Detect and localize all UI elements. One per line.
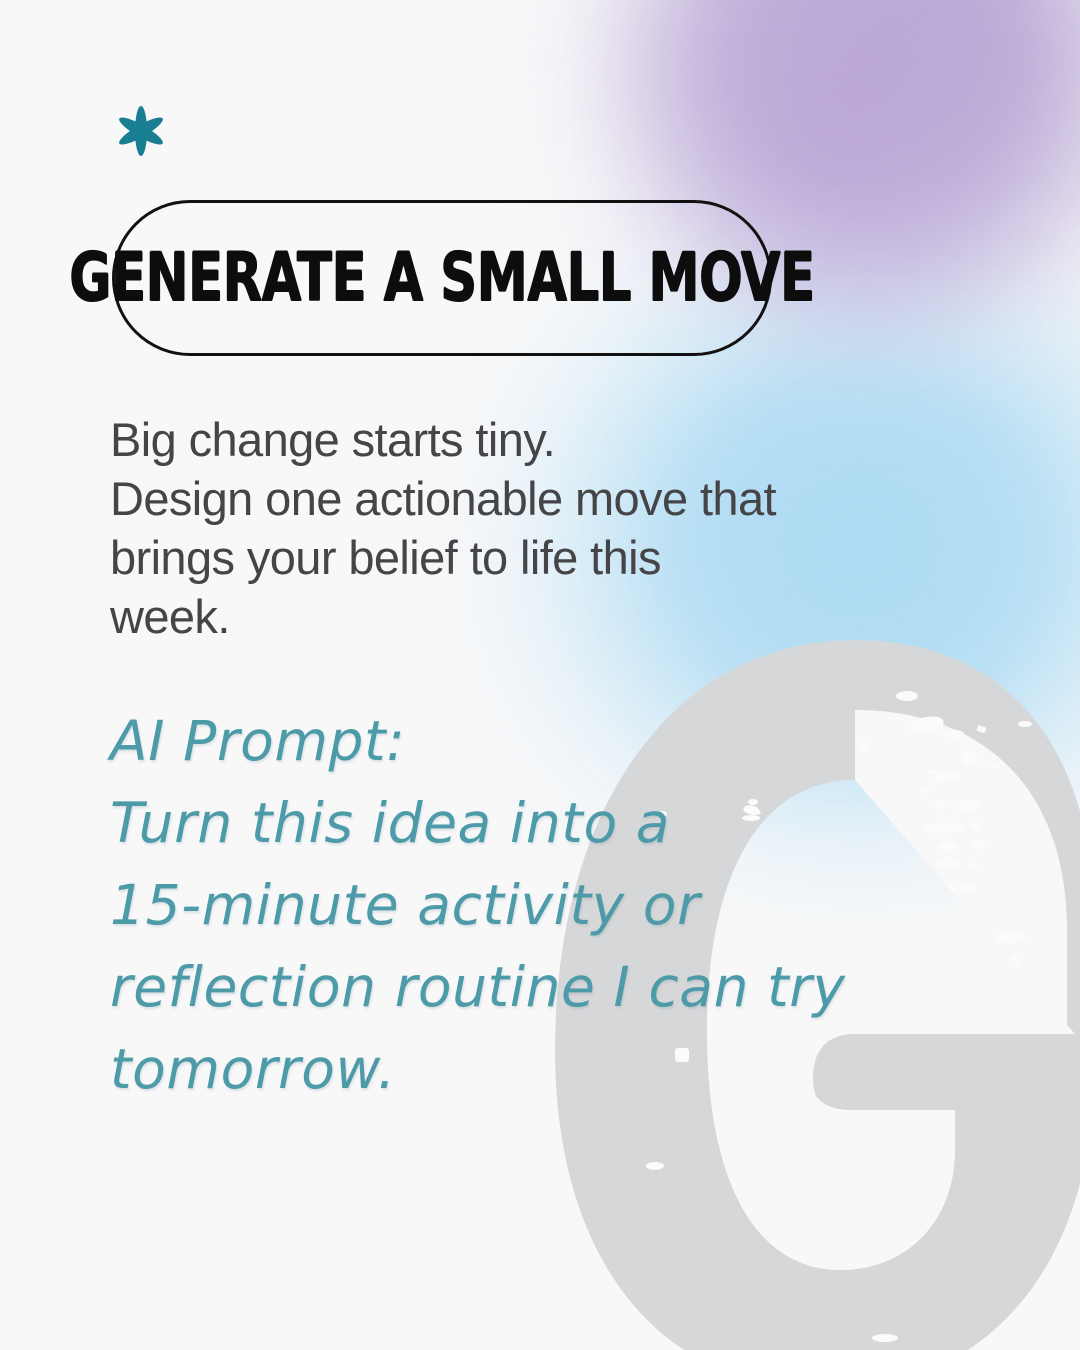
ai-prompt-line: tomorrow. [110, 1028, 870, 1110]
ai-prompt-label: AI Prompt: [110, 700, 870, 782]
body-line: week. [110, 587, 870, 646]
body-line: brings your belief to life this [110, 528, 870, 587]
body-copy: Big change starts tiny. Design one actio… [110, 410, 870, 646]
ai-prompt-line: reflection routine I can try [110, 946, 870, 1028]
content-column: GENERATE A SMALL MOVE Big change starts … [110, 0, 960, 1350]
ai-prompt-block: AI Prompt: Turn this idea into a 15-minu… [110, 700, 870, 1110]
body-line: Design one actionable move that [110, 469, 870, 528]
ai-prompt-line: 15-minute activity or [110, 864, 870, 946]
title-pill: GENERATE A SMALL MOVE [112, 200, 772, 356]
slide-canvas: GENERATE A SMALL MOVE Big change starts … [0, 0, 1080, 1350]
ai-prompt-line: Turn this idea into a [110, 782, 870, 864]
asterisk-icon [110, 100, 172, 162]
page-title: GENERATE A SMALL MOVE [69, 239, 814, 317]
body-line: Big change starts tiny. [110, 410, 870, 469]
